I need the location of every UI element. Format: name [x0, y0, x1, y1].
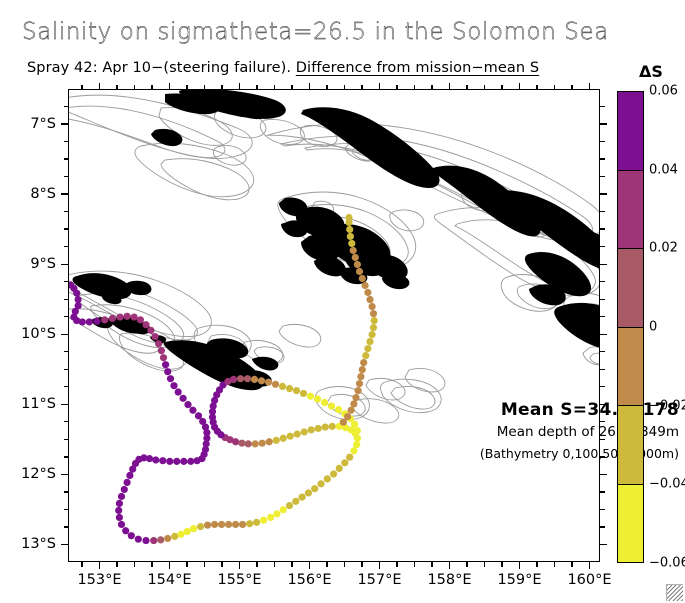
track-point: [359, 366, 366, 373]
x-tick-major: [589, 83, 590, 90]
map-canvas: [69, 90, 600, 562]
track-point: [177, 531, 184, 538]
x-tick-major: [589, 562, 590, 569]
track-point: [232, 521, 239, 528]
track-point: [336, 465, 343, 472]
y-tick-major: [600, 474, 607, 475]
x-tick-major: [239, 83, 240, 90]
track-point: [350, 247, 357, 254]
track-point: [279, 383, 286, 390]
y-tick-minor: [600, 211, 605, 212]
track-point: [152, 456, 159, 463]
track-point: [239, 521, 246, 528]
track-point: [122, 527, 129, 534]
x-tick-major: [449, 562, 450, 569]
x-tick-minor: [361, 85, 362, 90]
colorbar-tick-label: −0.02: [649, 398, 685, 413]
track-point: [230, 376, 237, 383]
track-point: [131, 313, 138, 320]
track-point: [124, 479, 131, 486]
y-tick-major: [61, 334, 68, 335]
y-tick-minor: [600, 509, 605, 510]
track-point: [135, 536, 142, 543]
track-point: [253, 519, 260, 526]
y-tick-label: 13°S: [21, 536, 56, 552]
y-tick-minor: [64, 491, 69, 492]
track-point: [345, 214, 352, 221]
track-point: [299, 494, 306, 501]
y-tick-minor: [600, 299, 605, 300]
track-point: [155, 340, 162, 347]
track-point: [354, 261, 361, 268]
track-point: [162, 361, 169, 368]
x-tick-minor: [134, 85, 135, 90]
y-tick-minor: [600, 491, 605, 492]
x-tick-minor: [326, 85, 327, 90]
x-tick-minor: [414, 562, 415, 567]
track-point: [344, 413, 351, 420]
track-point: [353, 441, 360, 448]
x-tick-major: [519, 562, 520, 569]
x-tick-minor: [256, 85, 257, 90]
track-point: [245, 440, 252, 447]
y-tick-major: [61, 474, 68, 475]
y-tick-minor: [64, 141, 69, 142]
track-point: [315, 425, 322, 432]
track-point: [328, 402, 335, 409]
x-tick-minor: [221, 85, 222, 90]
x-tick-minor: [361, 562, 362, 567]
colorbar-band: [618, 327, 643, 406]
colorbar-tick-label: 0.06: [649, 84, 678, 99]
track-point: [347, 233, 354, 240]
track-point: [366, 338, 373, 345]
track-point: [305, 489, 312, 496]
y-tick-minor: [64, 439, 69, 440]
colorbar-band: [618, 484, 643, 563]
y-tick-major: [600, 193, 607, 194]
x-tick-minor: [344, 562, 345, 567]
y-tick-major: [61, 193, 68, 194]
y-tick-minor: [600, 386, 605, 387]
y-tick-minor: [64, 176, 69, 177]
x-tick-minor: [291, 562, 292, 567]
track-point: [369, 303, 376, 310]
y-tick-minor: [64, 421, 69, 422]
track-point: [355, 387, 362, 394]
y-tick-minor: [64, 106, 69, 107]
track-point: [280, 506, 287, 513]
x-tick-minor: [484, 562, 485, 567]
y-tick-major: [61, 123, 68, 124]
track-point: [259, 440, 266, 447]
track-point: [359, 275, 366, 282]
track-point: [267, 514, 274, 521]
subtitle-underlined: Difference from mission−mean S: [296, 60, 539, 76]
track-point: [292, 498, 299, 505]
x-tick-label: 160°E: [567, 572, 611, 588]
x-tick-minor: [326, 562, 327, 567]
track-point: [152, 333, 159, 340]
track-point: [160, 354, 167, 361]
track-point: [346, 454, 353, 461]
track-point: [348, 240, 355, 247]
x-tick-minor: [414, 85, 415, 90]
track-point: [218, 521, 225, 528]
track-point: [128, 532, 135, 539]
y-tick-minor: [600, 141, 605, 142]
track-point: [118, 493, 125, 500]
y-tick-minor: [600, 158, 605, 159]
y-tick-minor: [600, 351, 605, 352]
colorbar-tick-label: −0.04: [649, 477, 685, 492]
track-point: [251, 376, 258, 383]
x-tick-minor: [186, 562, 187, 567]
y-tick-major: [600, 123, 607, 124]
y-tick-minor: [600, 369, 605, 370]
track-point: [187, 458, 194, 465]
track-point: [190, 525, 197, 532]
y-tick-minor: [64, 386, 69, 387]
x-tick-minor: [274, 562, 275, 567]
y-tick-minor: [600, 421, 605, 422]
track-point: [273, 437, 280, 444]
track-point: [330, 470, 337, 477]
track-point: [166, 458, 173, 465]
figure-subtitle: Spray 42: Apr 10−(steering failure). Dif…: [27, 60, 539, 76]
track-point: [164, 368, 171, 375]
track-point: [252, 440, 259, 447]
track-point: [237, 375, 244, 382]
y-tick-minor: [600, 246, 605, 247]
track-point: [370, 324, 377, 331]
colorbar-band: [618, 92, 643, 170]
track-point: [129, 466, 136, 473]
y-tick-minor: [64, 456, 69, 457]
x-tick-minor: [501, 562, 502, 567]
track-point: [246, 520, 253, 527]
track-point: [356, 380, 363, 387]
track-point: [75, 296, 82, 303]
track-point: [362, 352, 369, 359]
track-point: [93, 318, 100, 325]
track-point: [116, 500, 123, 507]
track-point: [286, 385, 293, 392]
page-title: Salinity on sigmatheta=26.5 in the Solom…: [22, 19, 609, 45]
y-tick-minor: [600, 176, 605, 177]
track-point: [322, 423, 329, 430]
track-point: [280, 435, 287, 442]
x-tick-minor: [291, 85, 292, 90]
track-point: [356, 268, 363, 275]
colorbar-tick-label: −0.06: [649, 556, 685, 571]
x-tick-minor: [396, 562, 397, 567]
x-tick-minor: [116, 562, 117, 567]
mean-depth-annotation: Mean depth of 26.5=349m: [497, 424, 679, 440]
track-point: [362, 282, 369, 289]
x-tick-minor: [466, 85, 467, 90]
track-point: [175, 388, 182, 395]
x-tick-label: 153°E: [77, 572, 121, 588]
y-tick-minor: [64, 316, 69, 317]
track-point: [311, 485, 318, 492]
x-tick-minor: [571, 85, 572, 90]
track-point: [308, 426, 315, 433]
track-point: [272, 381, 279, 388]
x-tick-label: 155°E: [217, 572, 261, 588]
track-point: [300, 390, 307, 397]
track-point: [189, 407, 196, 414]
x-tick-minor: [256, 562, 257, 567]
track-point: [307, 393, 314, 400]
y-tick-minor: [600, 526, 605, 527]
x-tick-major: [449, 83, 450, 90]
colorbar: [617, 91, 644, 563]
x-tick-minor: [186, 85, 187, 90]
track-point: [159, 457, 166, 464]
track-point: [357, 373, 364, 380]
colorbar-tick-label: 0.04: [649, 162, 678, 177]
x-tick-major: [379, 83, 380, 90]
track-point: [158, 347, 165, 354]
x-tick-minor: [204, 562, 205, 567]
x-tick-minor: [81, 85, 82, 90]
colorbar-band: [618, 248, 643, 327]
track-point: [142, 537, 149, 544]
y-tick-minor: [64, 246, 69, 247]
y-tick-major: [600, 334, 607, 335]
track-point: [366, 296, 373, 303]
x-tick-minor: [554, 85, 555, 90]
track-point: [150, 537, 157, 544]
track-point: [371, 317, 378, 324]
y-tick-minor: [64, 211, 69, 212]
x-tick-minor: [554, 562, 555, 567]
y-tick-label: 11°S: [21, 396, 56, 412]
track-point: [184, 401, 191, 408]
track-point: [121, 486, 128, 493]
y-tick-minor: [64, 158, 69, 159]
track-point: [314, 395, 321, 402]
track-point: [115, 507, 122, 514]
track-point: [137, 316, 144, 323]
x-tick-major: [239, 562, 240, 569]
track-point: [204, 522, 211, 529]
track-point: [351, 421, 358, 428]
y-tick-major: [600, 264, 607, 265]
track-point: [197, 523, 204, 530]
x-tick-label: 154°E: [147, 572, 191, 588]
track-point: [317, 480, 324, 487]
track-point: [118, 521, 125, 528]
y-tick-label: 7°S: [30, 116, 56, 132]
subtitle-plain: Spray 42: Apr 10−(steering failure).: [27, 60, 296, 76]
track-point: [238, 440, 245, 447]
x-tick-minor: [396, 85, 397, 90]
x-tick-major: [99, 562, 100, 569]
track-point: [184, 528, 191, 535]
y-tick-major: [61, 544, 68, 545]
figure-canvas: Salinity on sigmatheta=26.5 in the Solom…: [0, 0, 685, 603]
track-point: [79, 318, 86, 325]
track-point: [173, 458, 180, 465]
track-point: [101, 316, 108, 323]
x-tick-major: [519, 83, 520, 90]
track-point: [354, 427, 361, 434]
colorbar-band: [618, 170, 643, 249]
colorbar-title: ΔS: [639, 62, 663, 81]
track-point: [147, 327, 154, 334]
y-tick-minor: [600, 106, 605, 107]
track-point: [329, 423, 336, 430]
x-tick-label: 156°E: [287, 572, 331, 588]
track-point: [352, 254, 359, 261]
x-tick-minor: [116, 85, 117, 90]
track-point: [194, 457, 201, 464]
y-tick-label: 10°S: [21, 326, 56, 342]
x-tick-major: [169, 83, 170, 90]
y-tick-minor: [64, 228, 69, 229]
track-point: [164, 535, 171, 542]
track-point: [293, 387, 300, 394]
track-point: [335, 406, 342, 413]
track-point: [73, 290, 80, 297]
colorbar-band: [618, 405, 643, 484]
track-point: [286, 502, 293, 509]
track-point: [321, 399, 328, 406]
colorbar-tick-label: 0: [649, 320, 657, 335]
track-point: [341, 459, 348, 466]
track-point: [124, 313, 131, 320]
x-tick-minor: [431, 85, 432, 90]
track-point: [350, 447, 357, 454]
y-tick-minor: [64, 509, 69, 510]
x-tick-major: [379, 562, 380, 569]
track-point: [211, 521, 218, 528]
track-point: [171, 533, 178, 540]
track-point: [352, 394, 359, 401]
track-point: [364, 289, 371, 296]
x-tick-minor: [81, 562, 82, 567]
x-tick-minor: [466, 562, 467, 567]
x-tick-major: [169, 562, 170, 569]
x-tick-minor: [274, 85, 275, 90]
y-tick-minor: [600, 228, 605, 229]
y-tick-major: [61, 264, 68, 265]
track-point: [258, 377, 265, 384]
track-point: [266, 438, 273, 445]
x-tick-minor: [501, 85, 502, 90]
x-tick-minor: [221, 562, 222, 567]
map-plot-area: [68, 89, 600, 562]
y-tick-minor: [600, 281, 605, 282]
track-point: [86, 318, 93, 325]
y-tick-minor: [64, 281, 69, 282]
x-tick-minor: [151, 562, 152, 567]
track-point: [301, 428, 308, 435]
track-point: [167, 375, 174, 382]
track-point: [369, 331, 376, 338]
track-point: [244, 375, 251, 382]
x-tick-label: 157°E: [357, 572, 401, 588]
track-point: [273, 510, 280, 517]
track-point: [180, 395, 187, 402]
y-tick-minor: [600, 316, 605, 317]
track-point: [265, 379, 272, 386]
colorbar-tick-label: 0.02: [649, 241, 678, 256]
x-tick-minor: [536, 85, 537, 90]
track-point: [350, 400, 357, 407]
y-tick-minor: [64, 369, 69, 370]
track-point: [170, 382, 177, 389]
bathymetry-annotation: (Bathymetry 0,100,500,1000m): [480, 446, 679, 461]
x-tick-minor: [151, 85, 152, 90]
x-tick-label: 158°E: [427, 572, 471, 588]
track-point: [360, 359, 367, 366]
track-point: [324, 475, 331, 482]
track-point: [142, 321, 149, 328]
x-tick-minor: [571, 562, 572, 567]
y-tick-minor: [64, 351, 69, 352]
resize-grip-handle[interactable]: [666, 584, 683, 601]
track-point: [109, 315, 116, 322]
track-point: [126, 472, 133, 479]
x-tick-label: 159°E: [497, 572, 541, 588]
x-tick-minor: [204, 85, 205, 90]
track-point: [287, 433, 294, 440]
track-point: [157, 536, 164, 543]
x-tick-major: [309, 83, 310, 90]
x-tick-major: [99, 83, 100, 90]
y-tick-major: [61, 404, 68, 405]
track-point: [180, 458, 187, 465]
track-point: [348, 407, 355, 414]
track-point: [225, 521, 232, 528]
track-point: [294, 430, 301, 437]
y-tick-label: 8°S: [30, 186, 56, 202]
track-point: [370, 310, 377, 317]
track-point: [346, 226, 353, 233]
x-tick-minor: [431, 562, 432, 567]
y-tick-label: 9°S: [30, 256, 56, 272]
x-tick-minor: [134, 562, 135, 567]
track-point: [117, 313, 124, 320]
y-tick-minor: [64, 526, 69, 527]
y-tick-label: 12°S: [21, 466, 56, 482]
y-tick-minor: [64, 299, 69, 300]
y-tick-major: [600, 544, 607, 545]
x-tick-major: [309, 562, 310, 569]
track-point: [116, 514, 123, 521]
x-tick-minor: [536, 562, 537, 567]
track-point: [364, 345, 371, 352]
track-point: [260, 517, 267, 524]
x-tick-minor: [484, 85, 485, 90]
x-tick-minor: [344, 85, 345, 90]
